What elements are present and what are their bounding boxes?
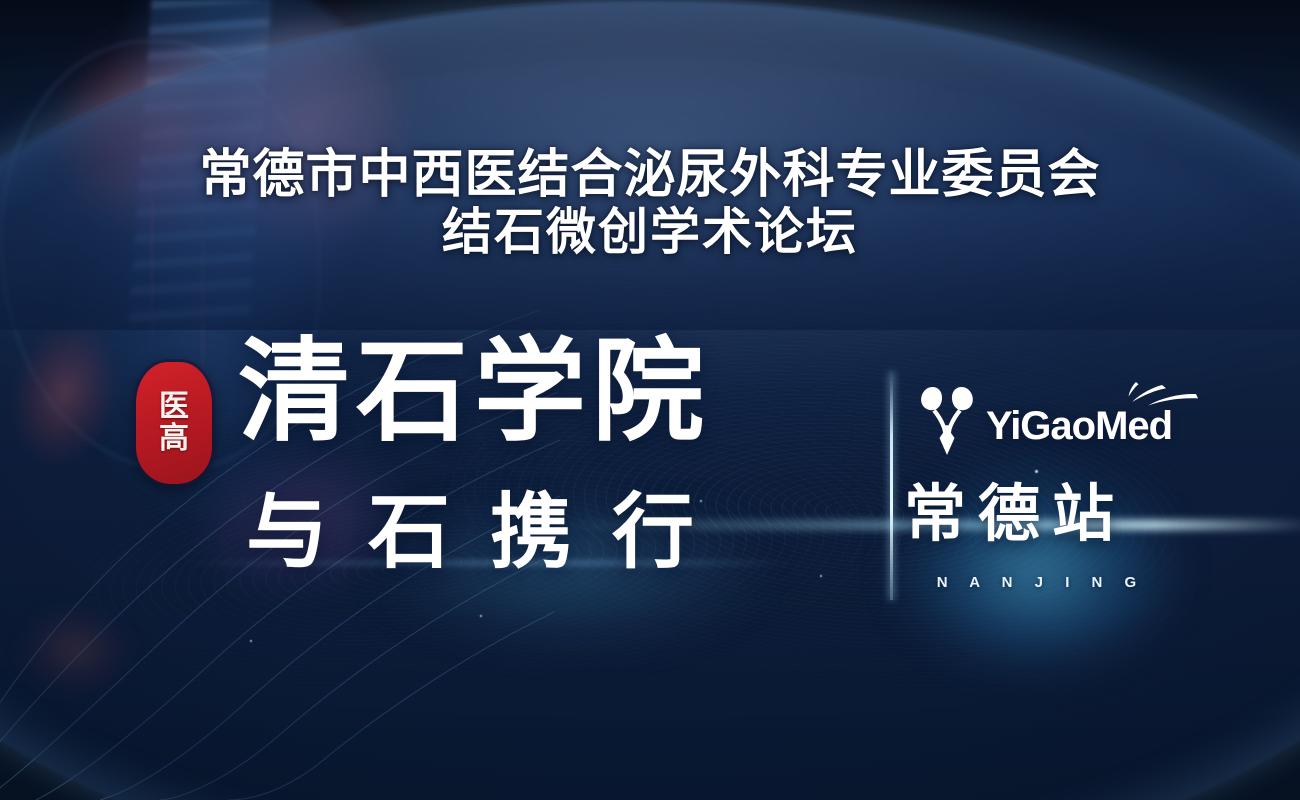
headline-line-1: 常德市中西医结合泌尿外科专业委员会	[199, 146, 1100, 204]
event-headline: 常德市中西医结合泌尿外科专业委员会 结石微创学术论坛	[0, 146, 1300, 260]
poster-content: 常德市中西医结合泌尿外科专业委员会 结石微创学术论坛 医 高 清石学院 与石携行	[0, 0, 1300, 800]
seal-char-top: 医	[159, 392, 189, 422]
academy-title: 清石学院	[238, 336, 710, 448]
vertical-divider	[890, 372, 893, 600]
event-poster: 常德市中西医结合泌尿外科专业委员会 结石微创学术论坛 医 高 清石学院 与石携行	[0, 0, 1300, 800]
swoosh-icon	[1116, 380, 1200, 414]
academy-tagline: 与石携行	[246, 492, 734, 574]
station-pinyin: N A N J I N G	[916, 574, 1166, 591]
seal-char-bottom: 高	[159, 424, 189, 454]
headline-line-2: 结石微创学术论坛	[0, 204, 1300, 260]
brand-lockup: 医 高 清石学院 与石携行 YiGaoMed	[0, 336, 1300, 616]
station-label: 常德站	[904, 484, 1126, 546]
red-seal-stamp: 医 高	[136, 362, 212, 484]
brand-block: YiGaoMed	[916, 382, 1216, 458]
kidney-pair-icon	[916, 384, 978, 456]
